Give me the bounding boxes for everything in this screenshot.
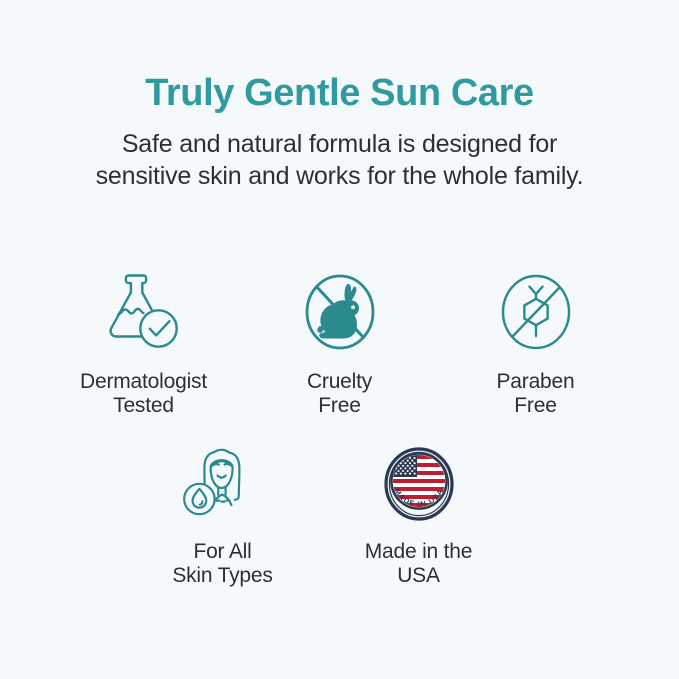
badge-dermatologist-tested: Dermatologist Tested [46, 268, 242, 418]
badge-made-in-usa: MADE IN USA Made in the USA [321, 440, 517, 588]
badge-label: Made in the USA [365, 540, 473, 588]
rabbit-eye [351, 305, 355, 309]
header: Truly Gentle Sun Care Safe and natural f… [0, 74, 679, 192]
flask-check-icon [103, 270, 185, 354]
badge-icon-wrapper [103, 268, 185, 356]
benefit-badge-row-2: For All Skin Types [0, 440, 679, 588]
badge-for-all-skin-types: For All Skin Types [125, 440, 321, 588]
page-subtitle: Safe and natural formula is designed for… [90, 128, 590, 192]
badge-label: Paraben Free [497, 370, 575, 418]
badge-icon-wrapper [181, 440, 265, 528]
no-paraben-molecule-icon [496, 270, 576, 354]
page-title: Truly Gentle Sun Care [0, 74, 679, 112]
badge-cruelty-free: Cruelty Free [242, 268, 438, 418]
face-droplet-icon [181, 442, 265, 526]
no-rabbit-icon [300, 270, 380, 354]
made-in-usa-badge-icon: MADE IN USA [379, 443, 459, 525]
badge-label: For All Skin Types [172, 540, 272, 588]
badge-icon-wrapper [300, 268, 380, 356]
benefit-badge-row-1: Dermatologist Tested [0, 268, 679, 418]
badge-label: Cruelty Free [307, 370, 372, 418]
check-circle-outline [140, 310, 176, 346]
benefit-badge-grid: Dermatologist Tested [0, 268, 679, 588]
product-benefits-panel: Truly Gentle Sun Care Safe and natural f… [0, 0, 679, 679]
badge-icon-wrapper: MADE IN USA [379, 440, 459, 528]
badge-paraben-free: Paraben Free [438, 268, 634, 418]
badge-label: Dermatologist Tested [80, 370, 207, 418]
badge-icon-wrapper [496, 268, 576, 356]
